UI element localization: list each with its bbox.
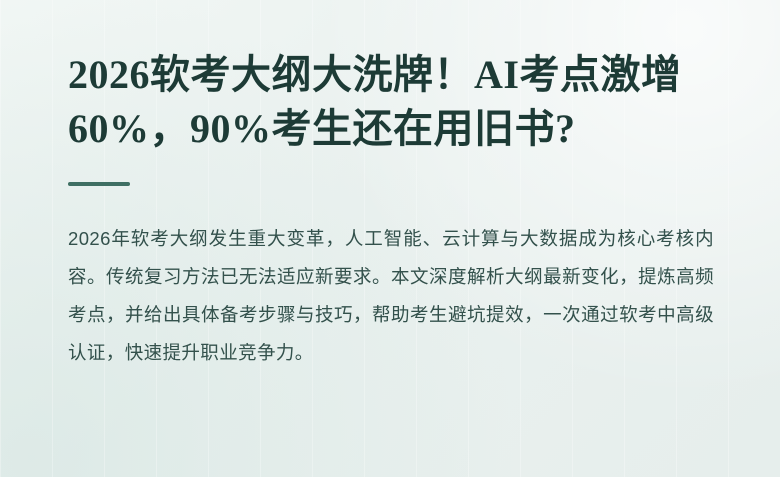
article-title: 2026软考大纲大洗牌！AI考点激增60%，90%考生还在用旧书? [68,48,714,156]
article-cover-card: 2026软考大纲大洗牌！AI考点激增60%，90%考生还在用旧书? 2026年软… [0,0,780,477]
article-content: 2026软考大纲大洗牌！AI考点激增60%，90%考生还在用旧书? 2026年软… [0,0,780,372]
article-summary: 2026年软考大纲发生重大变革，人工智能、云计算与大数据成为核心考核内容。传统复… [68,220,714,372]
title-accent-divider [68,182,130,186]
